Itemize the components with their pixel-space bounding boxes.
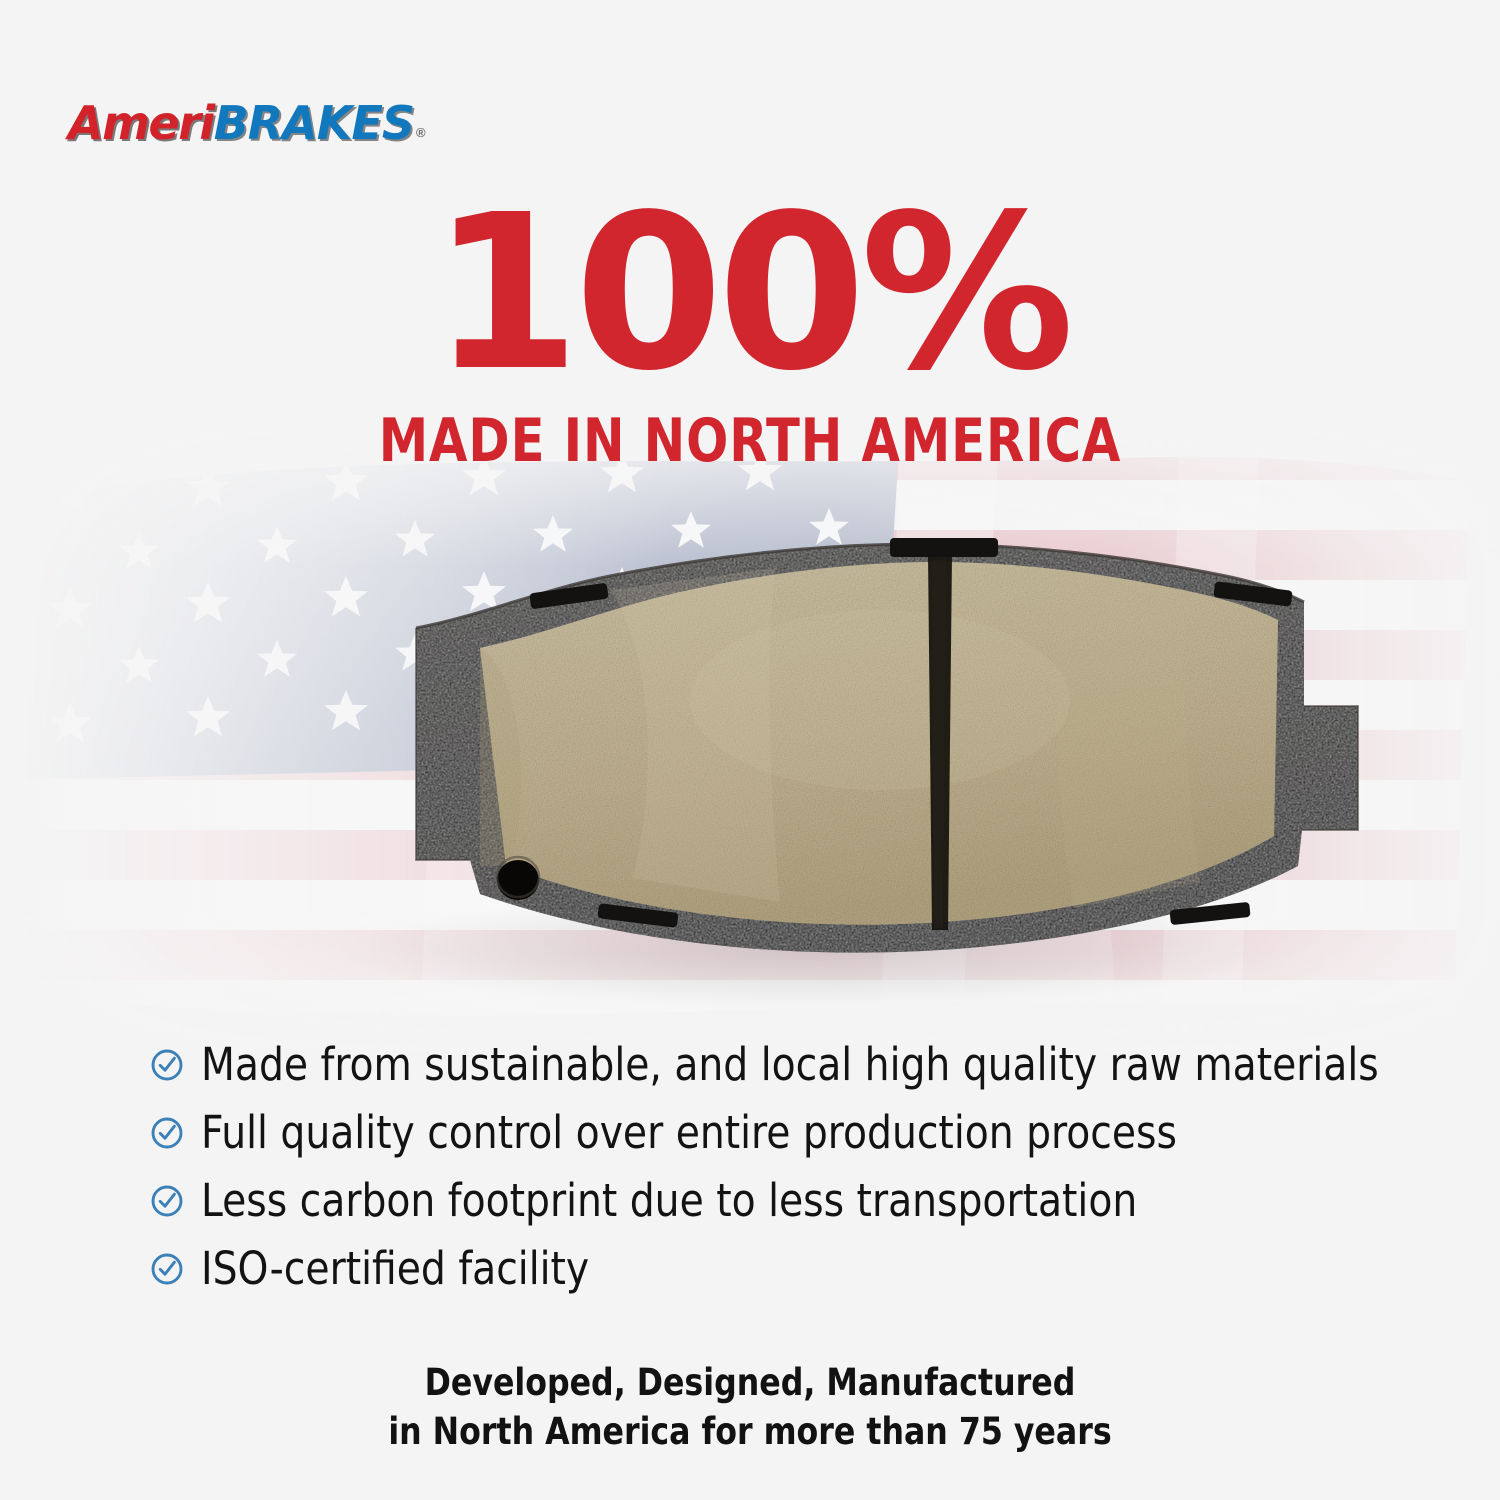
footer-block: Developed, Designed, Manufactured in Nor…: [0, 1358, 1500, 1456]
brake-pad-product-image: [180, 530, 1360, 1030]
list-item: Full quality control over entire product…: [150, 1106, 1350, 1158]
check-circle-icon: [150, 1252, 184, 1286]
check-circle-icon: [150, 1048, 184, 1082]
check-circle-icon: [150, 1116, 184, 1150]
feature-label: Made from sustainable, and local high qu…: [201, 1042, 1379, 1087]
list-item: Less carbon footprint due to less transp…: [150, 1174, 1350, 1226]
brake-pad-icon: [180, 530, 1360, 1030]
footer-line-2: in North America for more than 75 years: [38, 1407, 1463, 1456]
footer-line-1: Developed, Designed, Manufactured: [38, 1358, 1463, 1407]
logo-text-ameri: Ameri: [68, 100, 214, 146]
registered-trademark-icon: ®: [416, 126, 426, 139]
logo-text-brakes: BRAKES: [214, 100, 414, 146]
feature-label: Full quality control over entire product…: [201, 1110, 1177, 1155]
ameribrakes-logo[interactable]: AmeriBRAKES®: [68, 100, 426, 146]
feature-list: Made from sustainable, and local high qu…: [150, 1038, 1350, 1310]
mounting-hole: [497, 857, 539, 900]
feature-label: ISO-certified facility: [201, 1246, 589, 1291]
list-item: ISO-certified facility: [150, 1242, 1350, 1294]
check-circle-icon: [150, 1184, 184, 1218]
promo-banner: AmeriBRAKES®: [0, 0, 1500, 1500]
headline-block: 100% MADE IN NORTH AMERICA: [0, 196, 1500, 471]
feature-label: Less carbon footprint due to less transp…: [201, 1178, 1137, 1223]
list-item: Made from sustainable, and local high qu…: [150, 1038, 1350, 1090]
page-subtitle: MADE IN NORTH AMERICA: [60, 411, 1440, 471]
page-title-percent: 100%: [0, 196, 1500, 393]
